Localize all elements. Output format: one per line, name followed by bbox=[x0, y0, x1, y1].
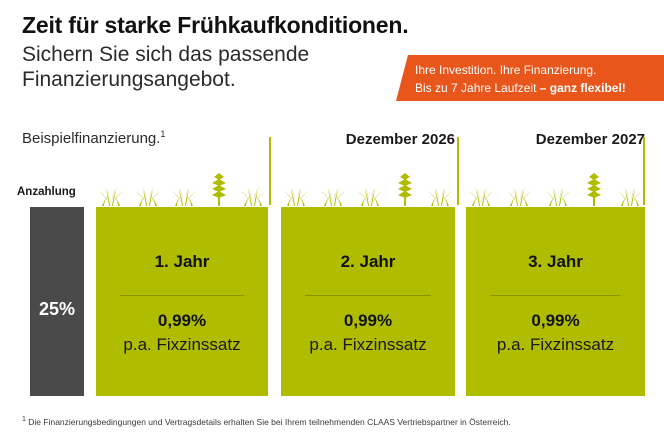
grass-icon bbox=[320, 184, 346, 206]
grass-icon bbox=[617, 184, 643, 206]
wheat-ear-icon bbox=[208, 172, 230, 206]
downpayment-bar: 25% bbox=[30, 207, 84, 396]
wheat-ear-icon bbox=[394, 172, 416, 206]
column-header-2026: Dezember 2026 bbox=[281, 131, 455, 148]
grass-icon bbox=[171, 184, 197, 206]
plant-row-1 bbox=[96, 168, 268, 206]
year-bar-1-rate-sub: p.a. Fixzinssatz bbox=[96, 335, 268, 355]
footnote: 1 Die Finanzierungsbedingungen und Vertr… bbox=[22, 417, 511, 427]
column-divider-1 bbox=[269, 137, 271, 205]
grass-icon bbox=[506, 184, 532, 206]
promo-banner-line2-strong: – ganz flexibel! bbox=[540, 81, 626, 95]
example-financing-label-text: Beispielfinanzierung. bbox=[22, 130, 160, 147]
wheat-ear-icon bbox=[583, 172, 605, 206]
promo-banner-line2: Bis zu 7 Jahre Laufzeit – ganz flexibel! bbox=[415, 80, 664, 98]
footnote-marker: 1 bbox=[22, 416, 26, 423]
grass-icon bbox=[283, 184, 309, 206]
grass-icon bbox=[357, 184, 383, 206]
promo-banner-line2-normal: Bis zu 7 Jahre Laufzeit bbox=[415, 81, 536, 95]
year-bar-2-divider bbox=[305, 295, 430, 296]
column-divider-2 bbox=[457, 137, 459, 205]
grass-icon bbox=[427, 184, 453, 206]
grass-icon bbox=[135, 184, 161, 206]
page-title: Zeit für starke Frühkaufkonditionen. Sic… bbox=[22, 12, 442, 93]
year-bar-3-rate: 0,99% bbox=[466, 311, 645, 331]
year-bar-2-title: 2. Jahr bbox=[281, 252, 455, 272]
grass-icon bbox=[545, 184, 571, 206]
downpayment-value: 25% bbox=[30, 299, 84, 320]
year-bar-3: 3. Jahr 0,99% p.a. Fixzinssatz bbox=[466, 207, 645, 396]
headline-subtitle-line1: Sichern Sie sich das passende bbox=[22, 43, 309, 66]
grass-icon bbox=[468, 184, 494, 206]
year-bar-3-rate-sub: p.a. Fixzinssatz bbox=[466, 335, 645, 355]
plant-row-3 bbox=[466, 168, 645, 206]
grass-icon bbox=[240, 184, 266, 206]
grass-icon bbox=[98, 184, 124, 206]
year-bar-2: 2. Jahr 0,99% p.a. Fixzinssatz bbox=[281, 207, 455, 396]
column-header-2027: Dezember 2027 bbox=[466, 131, 645, 148]
promo-banner-line1: Ihre Investition. Ihre Finanzierung. bbox=[415, 62, 664, 80]
plant-row-2 bbox=[281, 168, 455, 206]
year-bar-1-rate: 0,99% bbox=[96, 311, 268, 331]
year-bar-1-title: 1. Jahr bbox=[96, 252, 268, 272]
headline-main: Zeit für starke Frühkaufkonditionen. bbox=[22, 12, 442, 39]
example-financing-footnote-marker: 1 bbox=[160, 129, 165, 139]
year-bar-3-divider bbox=[491, 295, 620, 296]
downpayment-label: Anzahlung bbox=[17, 186, 76, 198]
year-bar-1: 1. Jahr 0,99% p.a. Fixzinssatz bbox=[96, 207, 268, 396]
example-financing-label: Beispielfinanzierung.1 bbox=[22, 130, 165, 147]
year-bar-2-rate: 0,99% bbox=[281, 311, 455, 331]
footnote-text: Die Finanzierungsbedingungen und Vertrag… bbox=[28, 417, 510, 427]
year-bar-2-rate-sub: p.a. Fixzinssatz bbox=[281, 335, 455, 355]
headline-subtitle: Sichern Sie sich das passende Finanzieru… bbox=[22, 42, 442, 93]
promo-banner-text: Ihre Investition. Ihre Finanzierung. Bis… bbox=[396, 55, 664, 98]
promo-banner: Ihre Investition. Ihre Finanzierung. Bis… bbox=[396, 55, 664, 101]
year-bar-3-title: 3. Jahr bbox=[466, 252, 645, 272]
headline-subtitle-line2: Finanzierungsangebot. bbox=[22, 67, 442, 93]
year-bar-1-divider bbox=[120, 295, 244, 296]
